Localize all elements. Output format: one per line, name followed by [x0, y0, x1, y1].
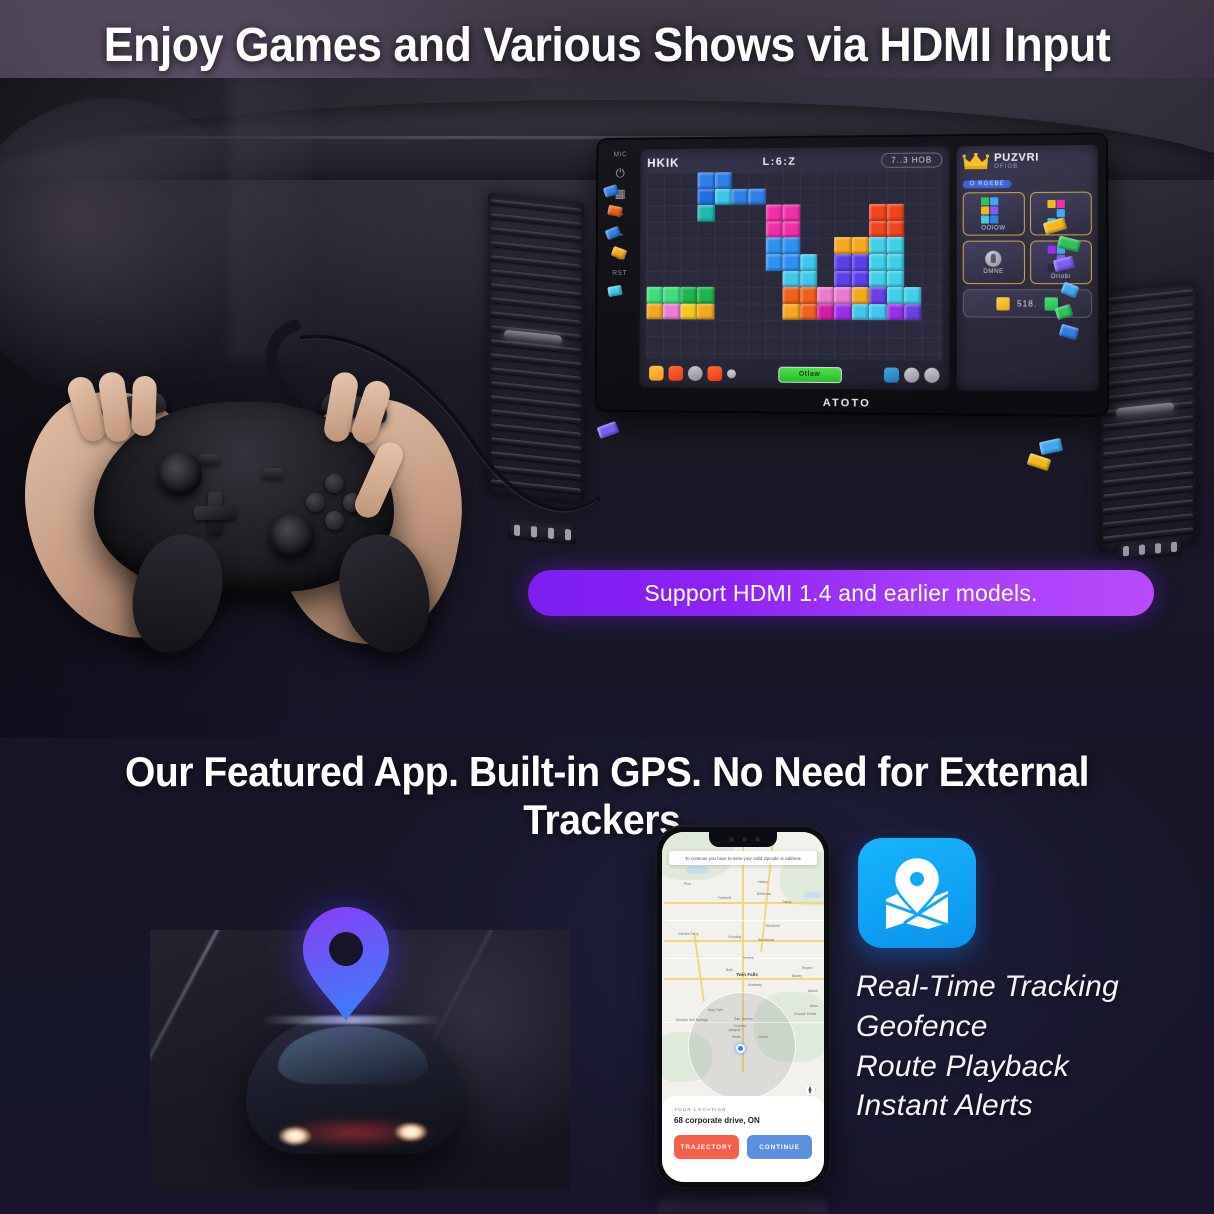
power-icon[interactable]: ⏻ [616, 167, 625, 179]
mode-tile-1[interactable]: OOlOW [963, 192, 1025, 236]
map-label: Pine [684, 882, 691, 886]
tetris-block [869, 221, 886, 238]
vent-knob[interactable] [1116, 402, 1174, 417]
headlight-left [278, 1126, 312, 1146]
game-hud-left: HKIK [647, 155, 679, 169]
toolbar-icon-rotate[interactable] [884, 367, 899, 382]
phone-notch [709, 832, 777, 847]
vent-slat [491, 479, 581, 493]
tetris-block [783, 205, 800, 222]
tetris-block [783, 271, 800, 288]
map-label: Albion [808, 989, 818, 993]
air-vent-right [1100, 283, 1196, 553]
tetris-block [800, 304, 817, 321]
tetris-block [887, 237, 904, 254]
location-sheet[interactable]: YOUR LOCATION 68 corporate drive, ON TRA… [662, 1096, 824, 1182]
tetris-block [783, 221, 800, 238]
vent-slat [491, 241, 581, 255]
crown-icon [963, 152, 989, 169]
tetris-block [887, 204, 904, 221]
vent-slat [491, 437, 581, 451]
tetris-block [663, 287, 680, 303]
tetris-block [715, 172, 732, 188]
tetris-block [732, 188, 749, 205]
tetris-block [715, 189, 732, 205]
tetris-block [817, 287, 834, 304]
start-button[interactable] [262, 468, 284, 479]
toolbar-icon-pause[interactable] [649, 366, 664, 381]
tetris-block [647, 287, 664, 303]
hdmi-support-badge-text: Support HDMI 1.4 and earlier models. [644, 580, 1037, 607]
game-menu-panel[interactable]: PUZVRI OFIGB O RGEBE OOlOW [957, 145, 1099, 392]
map-label: Hailey [758, 880, 768, 884]
air-vent-left [488, 193, 584, 503]
vent-slat [1103, 499, 1193, 513]
vent-slat [491, 409, 581, 423]
tetris-block [680, 287, 697, 303]
toolbar-icon-down[interactable] [924, 368, 939, 383]
vent-slat [1103, 457, 1193, 471]
map-label: Jerome [742, 956, 754, 960]
finger-l3 [131, 376, 157, 437]
toolbar-icon-dot[interactable] [727, 369, 736, 378]
tetris-block [869, 254, 886, 271]
tetris-block [869, 204, 886, 221]
tetris-block [800, 271, 817, 288]
map-road-6 [693, 932, 705, 1002]
vent-slat [491, 213, 581, 227]
reset-label: RST [612, 270, 627, 277]
phone-mockup[interactable]: AtlantaPineHaileyBellevueFairfieldCareyR… [657, 827, 829, 1187]
score-icon-yellow [997, 297, 1010, 310]
tetris-block [852, 271, 869, 288]
vent-slat [491, 311, 581, 325]
tetris-block [887, 221, 904, 238]
sheet-buttons[interactable]: TRAJECTORY CONTINUE [674, 1135, 812, 1159]
map-label: Murphy Hot Springs [676, 1018, 708, 1022]
tetris-block [783, 304, 800, 321]
tetris-block [697, 303, 714, 319]
tetris-block [766, 254, 783, 271]
game-hud-right: 7..3 HOB [881, 152, 942, 168]
tetris-block [887, 271, 904, 288]
tetris-block [834, 304, 851, 321]
tile-blocks-icon [980, 196, 1007, 223]
vent-slat [491, 199, 581, 213]
page-title-middle: Our Featured App. Built-in GPS. No Need … [42, 748, 1171, 844]
lock-icon [985, 250, 1001, 266]
trajectory-button[interactable]: TRAJECTORY [674, 1135, 739, 1159]
map-label: Carey [782, 900, 792, 904]
dpad[interactable] [194, 492, 236, 534]
vent-slat [1103, 289, 1193, 303]
tetris-block [663, 303, 680, 319]
tetris-block [698, 205, 715, 221]
tetris-block [869, 304, 886, 321]
map-label: Cobre [758, 1035, 768, 1039]
tetris-game-panel[interactable]: HKIK L:6:Z 7..3 HOB Otlaw [639, 146, 949, 390]
toolbar-icon-score[interactable] [668, 366, 683, 381]
vent-slat [491, 381, 581, 395]
vent-slat [1103, 373, 1193, 387]
tetris-block [852, 287, 869, 304]
location-address: 68 corporate drive, ON [674, 1116, 812, 1125]
mode-tile-4-caption: Oriobi [1051, 274, 1071, 280]
tetris-block [783, 287, 800, 304]
map-label: San Jacinto [734, 1017, 753, 1021]
panel-title: PUZVRI [994, 151, 1039, 164]
map-label: Glenns Ferry [678, 932, 699, 936]
vent-slat [1103, 443, 1193, 457]
map-label: Map Twin [708, 1008, 723, 1012]
head-unit-brand: ATOTO [597, 395, 1107, 412]
tetris-block [887, 304, 904, 321]
game-toolbar[interactable]: Otlaw [646, 363, 942, 386]
feature-list: Real-Time Tracking Geofence Route Playba… [856, 970, 1206, 1129]
hdmi-support-badge: Support HDMI 1.4 and earlier models. [528, 570, 1154, 616]
tetris-block [783, 254, 800, 271]
phone-reflection [657, 1188, 829, 1214]
map-road-2 [664, 940, 824, 942]
tetris-block [783, 238, 800, 255]
tetris-block [834, 287, 851, 304]
tetris-block [766, 221, 783, 238]
vent-slat [1103, 415, 1193, 429]
map-water-1 [686, 866, 708, 874]
tetris-block [766, 205, 783, 222]
vent-slat [1103, 317, 1193, 331]
feature-item-1: Real-Time Tracking [856, 970, 1206, 1005]
tetris-block [852, 304, 869, 321]
map-road-1 [664, 902, 824, 904]
mode-tile-3-caption: DMNE [983, 268, 1003, 274]
tetris-block [834, 237, 851, 254]
map-label: Contact [734, 1024, 746, 1028]
map-label: Fairfield [718, 896, 731, 900]
game-hud-center: L:6:Z [763, 155, 797, 167]
tetris-block [869, 287, 886, 304]
vent-slat [491, 353, 581, 367]
panel-pill-badge: O RGEBE [963, 180, 1012, 188]
tetris-block [887, 287, 904, 304]
tetris-block [869, 237, 886, 254]
vent-slat [491, 367, 581, 381]
hands-with-gamepad [28, 370, 458, 660]
tetris-block [852, 254, 869, 271]
continue-button[interactable]: CONTINUE [747, 1135, 812, 1159]
vent-slat [491, 395, 581, 409]
vent-slat [491, 297, 581, 311]
headlight-right [394, 1122, 428, 1142]
tetris-block [834, 271, 851, 288]
map-label: Buhl [726, 968, 733, 972]
tetris-block [800, 254, 817, 271]
map-toast-text: To continue you have to write your valid… [685, 856, 801, 861]
toolbar-icon-gray[interactable] [688, 366, 703, 381]
map-water-2 [804, 892, 822, 898]
vent-slat [1103, 513, 1193, 527]
tetris-block [697, 287, 714, 303]
vent-slat [1103, 485, 1193, 499]
mic-label: MIC [613, 151, 627, 158]
vent-slat [1103, 471, 1193, 485]
map-label: Jackpot [728, 1028, 740, 1032]
map-label: Burley [792, 974, 802, 978]
tetris-grid[interactable] [646, 170, 942, 360]
a-pillar [230, 78, 310, 358]
mode-tile-3-locked[interactable]: DMNE [963, 241, 1025, 285]
tetris-block [698, 189, 715, 205]
map-label: Kimberly [748, 983, 762, 987]
map-road-7 [666, 920, 824, 921]
tetris-block [887, 254, 904, 271]
controller-grip-left [119, 524, 235, 663]
head-unit-screen[interactable]: HKIK L:6:Z 7..3 HOB Otlaw [639, 145, 1098, 392]
tetris-block [680, 303, 697, 319]
map-label: Grouse Creek [794, 1012, 816, 1016]
tetris-block [698, 172, 715, 188]
head-unit-side-buttons[interactable]: MIC ⏻ ▦ + − ⎈ RST [603, 147, 637, 388]
vent-slat [1103, 387, 1193, 401]
map-label: Almo [810, 1004, 818, 1008]
phone-screen[interactable]: AtlantaPineHaileyBellevueFairfieldCareyR… [662, 832, 824, 1182]
page-title-top: Enjoy Games and Various Shows via HDMI I… [42, 18, 1171, 73]
tetris-block [800, 287, 817, 304]
compass-icon[interactable] [804, 1084, 816, 1096]
vent-slat [1103, 429, 1193, 443]
game-hud: HKIK L:6:Z 7..3 HOB [647, 152, 942, 169]
toolbar-primary-button[interactable]: Otlaw [778, 366, 842, 383]
vent-slat [1103, 345, 1193, 359]
map-label: Richfield [766, 924, 780, 928]
tetris-block [904, 287, 922, 304]
tetris-block [766, 238, 783, 255]
vent-slat [1103, 359, 1193, 373]
vent-slat [491, 269, 581, 283]
panel-header: PUZVRI OFIGB [963, 151, 1092, 170]
tetris-block [817, 304, 834, 321]
panel-subtitle: OFIGB [994, 164, 1039, 170]
feature-item-4: Instant Alerts [856, 1089, 1206, 1124]
location-caption: YOUR LOCATION [674, 1107, 812, 1112]
atoto-head-unit[interactable]: MIC ⏻ ▦ + − ⎈ RST HKIK L:6:Z 7..3 HOB Ot… [597, 135, 1107, 416]
tetris-block [904, 304, 922, 321]
map-label: Rupert [802, 966, 813, 970]
left-analog-stick[interactable] [158, 452, 202, 496]
tetris-block [834, 254, 851, 271]
map-pin-icon[interactable] [858, 838, 976, 948]
map-pin-marker [300, 905, 392, 1023]
vent-slat [491, 283, 581, 297]
vent-slat [1103, 303, 1193, 317]
vent-slat [491, 423, 581, 437]
map-road-3 [664, 978, 824, 980]
map-toast-message: To continue you have to write your valid… [669, 851, 817, 865]
tetris-block [646, 303, 663, 319]
tetris-block [749, 188, 766, 205]
vent-slat [491, 255, 581, 269]
map-label: Gooding [728, 935, 742, 939]
map-label: Shoshone [758, 938, 774, 942]
vent-slat [1103, 331, 1193, 345]
current-location-dot [736, 1044, 745, 1053]
vent-slat [491, 227, 581, 241]
map-label: Twin Falls [736, 972, 758, 977]
select-button[interactable] [198, 454, 220, 465]
feature-item-3: Route Playback [856, 1050, 1206, 1085]
vent-slat [491, 451, 581, 465]
mode-tile-1-caption: OOlOW [981, 225, 1005, 231]
tetris-block [852, 237, 869, 254]
panel-score-value: 518. [1017, 299, 1037, 308]
feature-item-2: Geofence [856, 1010, 1206, 1045]
toolbar-icon-red[interactable] [707, 366, 722, 381]
face-buttons[interactable] [306, 474, 362, 530]
map-label: Wells [732, 1035, 741, 1039]
tetris-block [869, 271, 886, 288]
toolbar-icon-left[interactable] [904, 368, 919, 383]
vent-slat [491, 465, 581, 479]
map-label: Bellevue [757, 892, 771, 896]
